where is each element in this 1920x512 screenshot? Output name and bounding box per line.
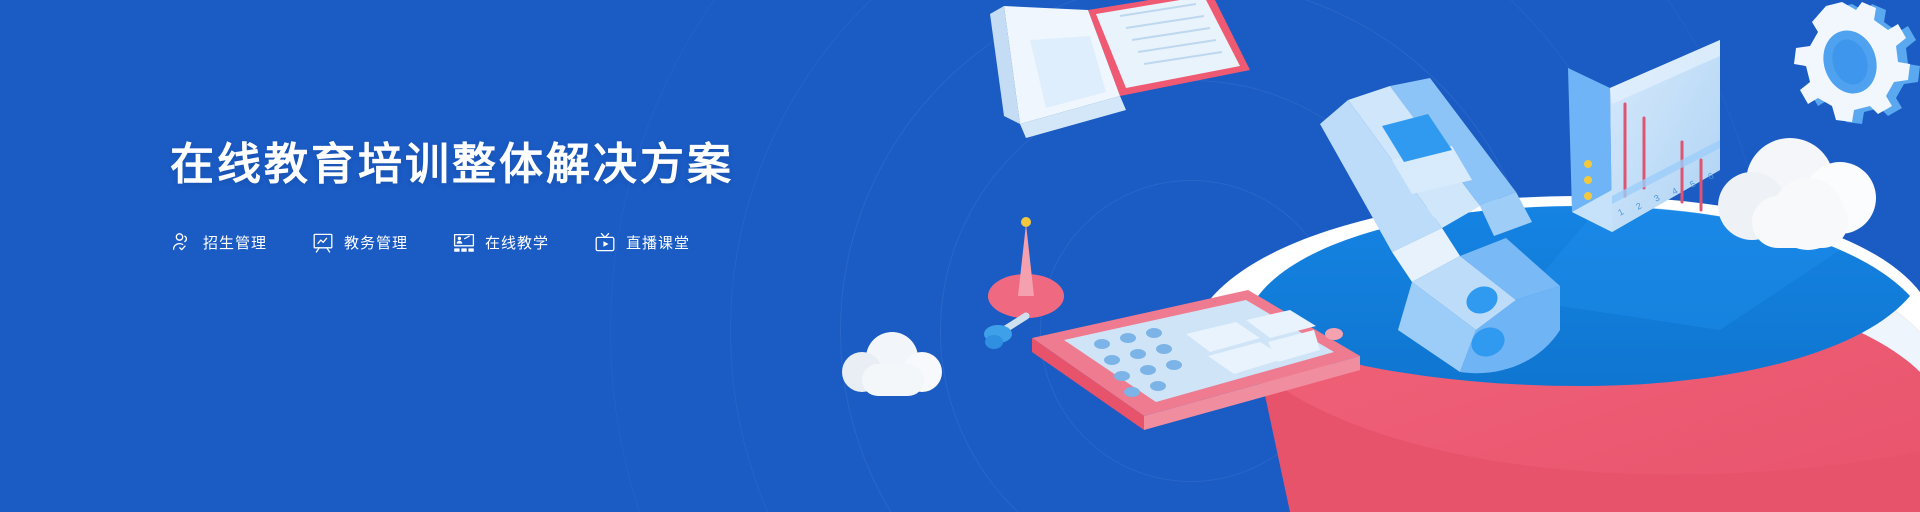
banner-text-block: 在线教育培训整体解决方案 招生管理 [170, 140, 870, 255]
cloud-left-bottom [840, 330, 960, 410]
feature-label: 招生管理 [203, 232, 267, 253]
feature-item-online-teaching[interactable]: 在线教学 [452, 231, 549, 255]
cloud-right [1718, 138, 1876, 250]
isometric-illustration: 1 2 3 4 5 6 [960, 0, 1920, 512]
feature-label: 直播课堂 [626, 232, 690, 253]
feature-label: 教务管理 [344, 232, 408, 253]
open-book [990, 0, 1250, 138]
online-teaching-icon [452, 231, 476, 255]
feature-item-live-class[interactable]: 直播课堂 [593, 231, 690, 255]
education-banner: 1 2 3 4 5 6 [0, 0, 1920, 512]
feature-list: 招生管理 教务管理 [170, 231, 870, 255]
gear-3d [1794, 2, 1920, 124]
whiteboard-chart-icon [311, 231, 335, 255]
feature-item-academic-affairs[interactable]: 教务管理 [311, 231, 408, 255]
spinning-top [984, 217, 1064, 349]
enrollment-user-icon [170, 231, 194, 255]
feature-item-enrollment[interactable]: 招生管理 [170, 231, 267, 255]
live-broadcast-tv-icon [593, 231, 617, 255]
page-title: 在线教育培训整体解决方案 [170, 140, 870, 191]
feature-label: 在线教学 [485, 232, 549, 253]
